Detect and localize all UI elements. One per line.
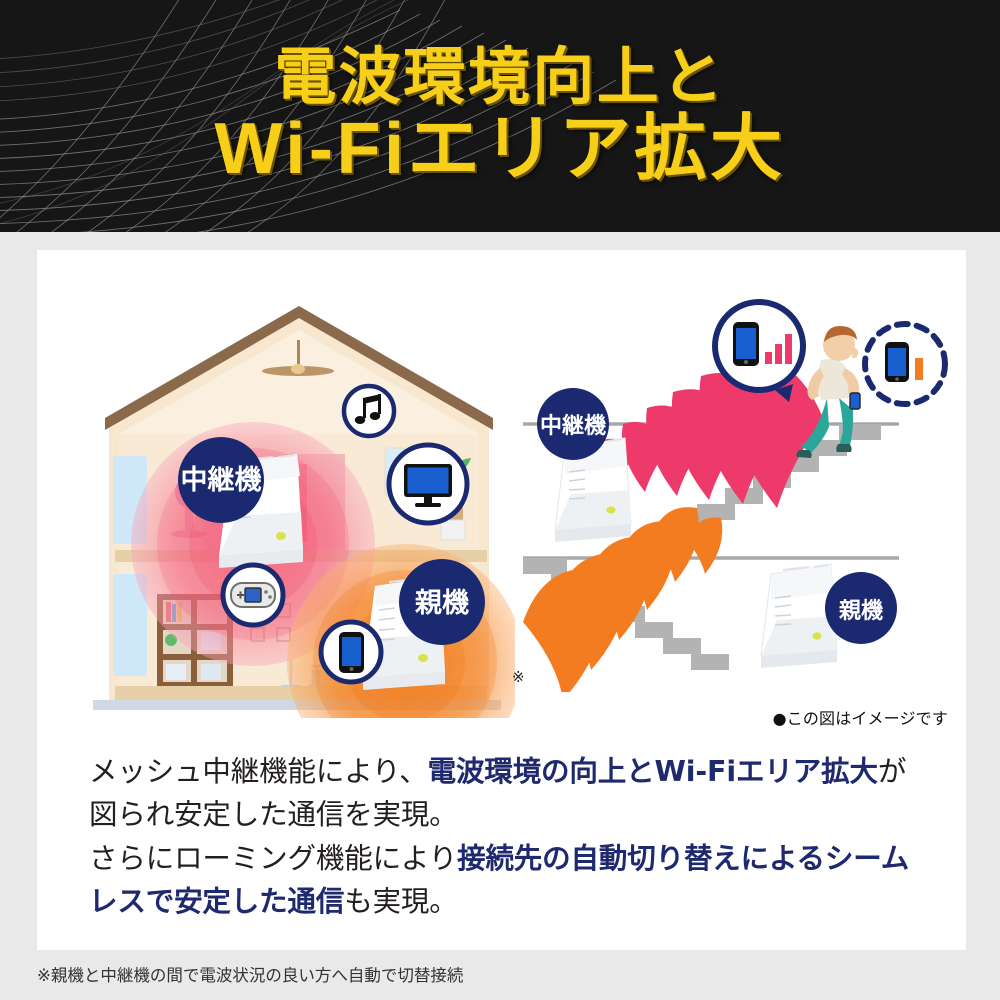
badge-router-stairs: 親機 — [825, 572, 897, 644]
footnote: ※親機と中継機の間で電波状況の良い方へ自動で切替接続 — [37, 962, 937, 986]
body-text-1a: メッシュ中継機能により、 — [89, 755, 428, 788]
content-panel: 中継機 親機 — [37, 250, 966, 950]
tv-monitor-icon — [389, 445, 467, 523]
body-paragraph-1: メッシュ中継機能により、電波環境の向上とWi-Fiエリア拡大が図られ安定した通信… — [89, 750, 934, 837]
svg-text:中継機: 中継機 — [540, 413, 606, 439]
body-text-3a: さらにローミング機能により — [89, 842, 457, 875]
svg-text:中継機: 中継機 — [181, 465, 262, 496]
house-cutaway-illustration: 中継機 親機 — [85, 268, 515, 718]
badge-router-house: 親機 — [399, 559, 485, 645]
body-text-3b: も実現。 — [344, 885, 457, 918]
badge-repeater-stairs: 中継機 — [537, 388, 609, 460]
title-line-1: 電波環境向上と — [274, 46, 725, 109]
badge-repeater-house: 中継機 — [178, 437, 264, 523]
body-text-2: 図られ安定した通信を実現。 — [89, 798, 458, 831]
smartphone-icon — [321, 622, 381, 682]
music-note-icon — [344, 386, 394, 436]
dashed-bubble-weak-signal — [865, 324, 945, 404]
router-device-stairs — [761, 564, 837, 668]
body-copy: メッシュ中継機能により、電波環境の向上とWi-Fiエリア拡大が図られ安定した通信… — [89, 750, 934, 923]
figure-note-mark: ※ — [512, 668, 525, 686]
body-paragraph-2: さらにローミング機能により接続先の自動切り替えによるシームレスで安定した通信も実… — [89, 837, 934, 924]
svg-text:親機: 親機 — [839, 598, 883, 624]
body-emphasis-1: 電波環境の向上とWi-Fiエリア拡大 — [428, 755, 878, 788]
image-caption: ●この図はイメージです — [37, 705, 948, 729]
stairs-roaming-illustration: 中継機 親機 — [507, 272, 957, 692]
title-line-2: Wi-Fiエリア拡大 — [214, 113, 785, 186]
page-title: 電波環境向上と Wi-Fiエリア拡大 — [0, 0, 1000, 232]
header-banner: 電波環境向上と Wi-Fiエリア拡大 — [0, 0, 1000, 232]
body-text-1b: が — [878, 755, 906, 788]
svg-text:親機: 親機 — [415, 588, 469, 619]
handheld-game-console-icon — [223, 565, 283, 625]
